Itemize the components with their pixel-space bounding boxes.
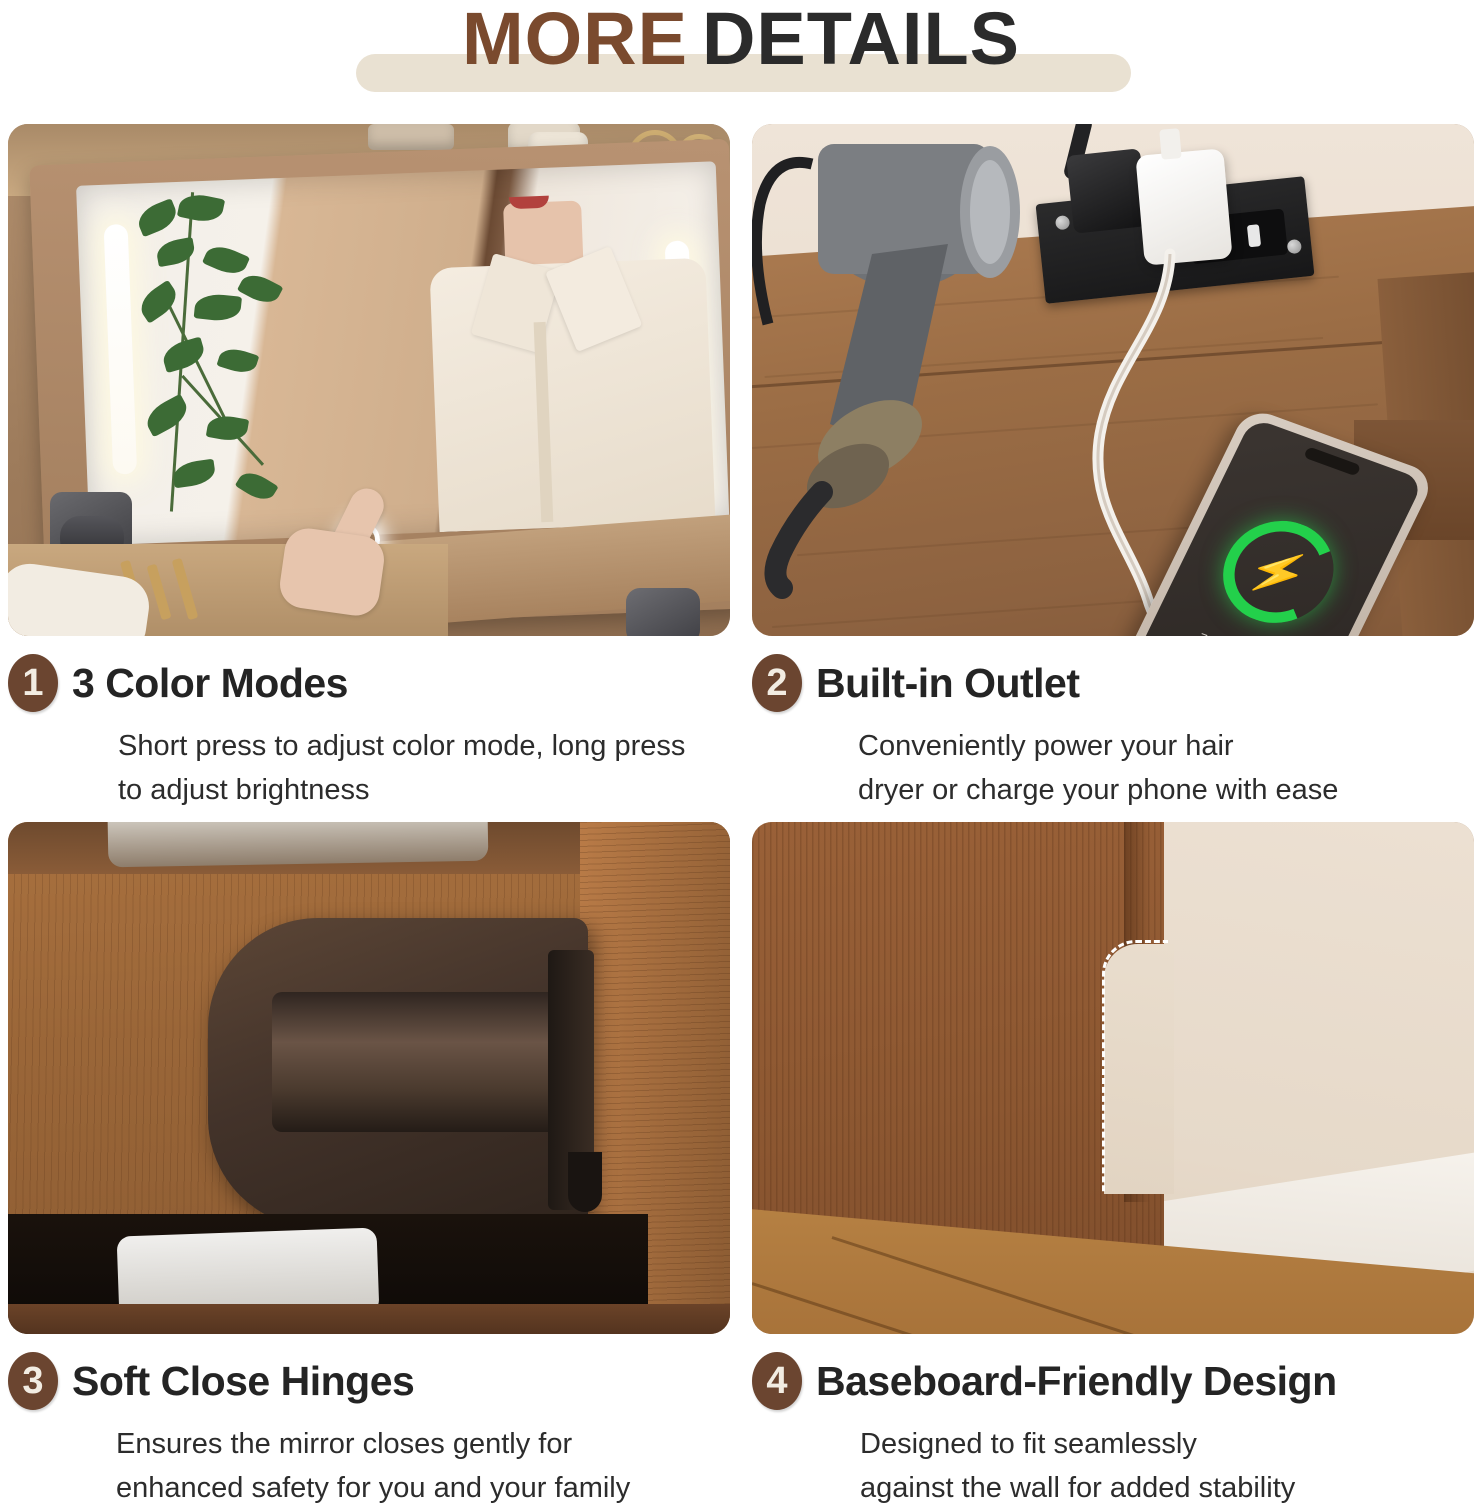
right-hinge — [626, 588, 700, 636]
feature-caption-3: 3 Soft Close Hinges Ensures the mirror c… — [8, 1334, 730, 1510]
feature-caption-2: 2 Built-in Outlet Conveniently power you… — [752, 636, 1474, 812]
feature-description-1: Short press to adjust color mode, long p… — [8, 724, 730, 812]
feature-description-2-line1: Conveniently power your hair — [858, 724, 1474, 768]
feature-description-2-line2: dryer or charge your phone with ease — [858, 768, 1474, 812]
mirror-edge — [108, 822, 489, 867]
feature-caption-4: 4 Baseboard-Friendly Design Designed to … — [752, 1334, 1474, 1510]
page-title-part2: DETAILS — [702, 0, 1020, 80]
feature-caption-1: 1 3 Color Modes Short press to adjust co… — [8, 636, 730, 812]
cabinet-bottom-edge — [8, 1304, 730, 1334]
feature-number-badge-2: 2 — [752, 654, 802, 712]
feature-heading-row-1: 1 3 Color Modes — [8, 654, 730, 712]
page-header: MOREDETAILS — [0, 0, 1482, 112]
makeup-brush-icon — [172, 558, 199, 620]
shelf-jar-icon — [368, 124, 454, 150]
feature-card-3: 3 Soft Close Hinges Ensures the mirror c… — [8, 822, 730, 1510]
feature-photo-4 — [752, 822, 1474, 1334]
charge-status-label: 75% Charged — [1150, 614, 1329, 636]
phone-notch-icon — [1303, 446, 1361, 476]
hinge-pin — [568, 1152, 602, 1212]
feature-heading-row-4: 4 Baseboard-Friendly Design — [752, 1352, 1474, 1410]
plant-reflection — [116, 187, 329, 524]
feature-photo-1 — [8, 124, 730, 636]
feature-photo-2: ⚡ 75% Charged — [752, 124, 1474, 636]
feature-card-1: 1 3 Color Modes Short press to adjust co… — [8, 124, 730, 812]
feature-description-3: Ensures the mirror closes gently for enh… — [8, 1422, 730, 1510]
hinge-cylinder — [272, 992, 572, 1132]
palm — [277, 525, 387, 618]
floor-plank-seam — [752, 1282, 1380, 1334]
feature-grid: 1 3 Color Modes Short press to adjust co… — [0, 112, 1482, 1500]
screw-icon — [1287, 239, 1302, 254]
feature-description-1-line2: to adjust brightness — [118, 768, 730, 812]
feature-heading-row-2: 2 Built-in Outlet — [752, 654, 1474, 712]
feature-number-badge-4: 4 — [752, 1352, 802, 1410]
feature-card-4: 4 Baseboard-Friendly Design Designed to … — [752, 822, 1474, 1510]
white-power-adapter — [1135, 148, 1232, 265]
feature-description-4: Designed to fit seamlessly against the w… — [752, 1422, 1474, 1510]
feature-heading-row-3: 3 Soft Close Hinges — [8, 1352, 730, 1410]
adapter-cable-stub — [1159, 128, 1182, 160]
feature-number-badge-3: 3 — [8, 1352, 58, 1410]
feature-title-4: Baseboard-Friendly Design — [816, 1358, 1337, 1405]
feature-title-1: 3 Color Modes — [72, 660, 348, 707]
makeup-brush-icon — [146, 564, 171, 621]
feature-description-3-line2: enhanced safety for you and your family — [116, 1466, 730, 1510]
page-title: MOREDETAILS — [0, 0, 1482, 82]
hand — [276, 476, 506, 636]
feature-title-2: Built-in Outlet — [816, 660, 1080, 707]
feature-description-2: Conveniently power your hair dryer or ch… — [752, 724, 1474, 812]
page-title-part1: MORE — [462, 0, 688, 80]
feature-card-2: ⚡ 75% Charged 2 Built-in Outlet Convenie… — [752, 124, 1474, 812]
usb-c-port-2-icon[interactable] — [1247, 224, 1261, 247]
feature-number-badge-1: 1 — [8, 654, 58, 712]
feature-title-3: Soft Close Hinges — [72, 1358, 414, 1405]
feature-photo-3 — [8, 822, 730, 1334]
feature-description-3-line1: Ensures the mirror closes gently for — [116, 1422, 730, 1466]
feature-description-4-line1: Designed to fit seamlessly — [860, 1422, 1474, 1466]
feature-description-4-line2: against the wall for added stability — [860, 1466, 1474, 1510]
cutout-dashed-outline — [1102, 940, 1168, 1192]
feature-description-1-line1: Short press to adjust color mode, long p… — [118, 724, 730, 768]
black-plug — [1066, 148, 1148, 233]
screw-icon — [1055, 215, 1070, 230]
